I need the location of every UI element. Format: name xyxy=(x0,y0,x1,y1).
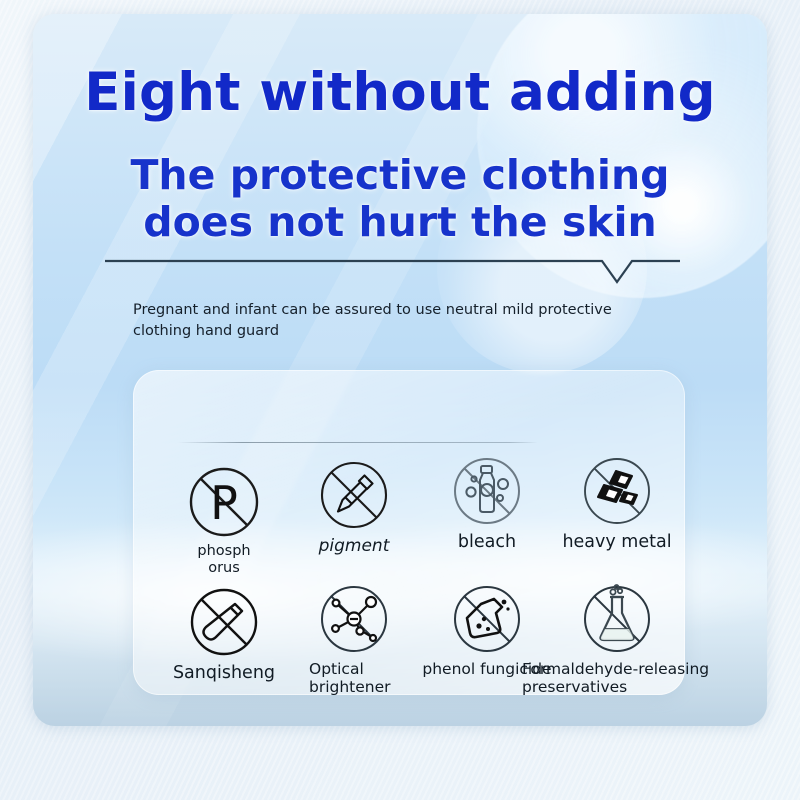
grid-item-optical-brightener: Optical brightener xyxy=(285,582,423,697)
page-subtitle: The protective clothing does not hurt th… xyxy=(0,152,800,245)
page-title: Eight without adding xyxy=(0,62,800,123)
label-sanqisheng: Sanqisheng xyxy=(155,663,293,684)
label-phosphorus: phosph orus xyxy=(155,543,293,577)
grid-item-phosphorus: P phosph orus xyxy=(155,465,293,577)
grid-item-formaldehyde: Formaldehyde-releasing preservatives xyxy=(548,582,686,697)
poster-stage: Eight without adding The protective clot… xyxy=(0,0,800,800)
description-text: Pregnant and infant can be assured to us… xyxy=(133,300,653,341)
label-formaldehyde: Formaldehyde-releasing preservatives xyxy=(522,660,712,697)
label-pigment: pigment xyxy=(285,536,423,556)
no-heavy-metal-ingots-icon xyxy=(580,454,654,528)
subtitle-line-1: The protective clothing xyxy=(0,152,800,199)
no-tilted-flask-icon xyxy=(450,582,524,656)
no-erlenmeyer-flask-icon xyxy=(580,582,654,656)
svg-text:P: P xyxy=(210,476,238,530)
label-bleach: bleach xyxy=(418,532,556,553)
subtitle-line-2: does not hurt the skin xyxy=(0,199,800,246)
ingredient-free-card: P phosph orus xyxy=(133,370,685,695)
grid-item-pigment: pigment xyxy=(285,458,423,556)
no-pigment-dropper-icon xyxy=(317,458,391,532)
divider-with-notch xyxy=(105,258,680,292)
label-heavy-metal: heavy metal xyxy=(548,532,686,553)
no-test-tube-icon xyxy=(187,585,261,659)
no-phosphorus-icon: P xyxy=(187,465,261,539)
grid-item-sanqisheng: Sanqisheng xyxy=(155,585,293,684)
label-optical-brightener: Optical brightener xyxy=(285,660,423,697)
grid-item-bleach: bleach xyxy=(418,454,556,553)
icon-grid: P phosph orus xyxy=(133,370,685,695)
no-bleach-bottle-icon xyxy=(450,454,524,528)
grid-item-heavy-metal: heavy metal xyxy=(548,454,686,553)
no-molecule-icon xyxy=(317,582,391,656)
